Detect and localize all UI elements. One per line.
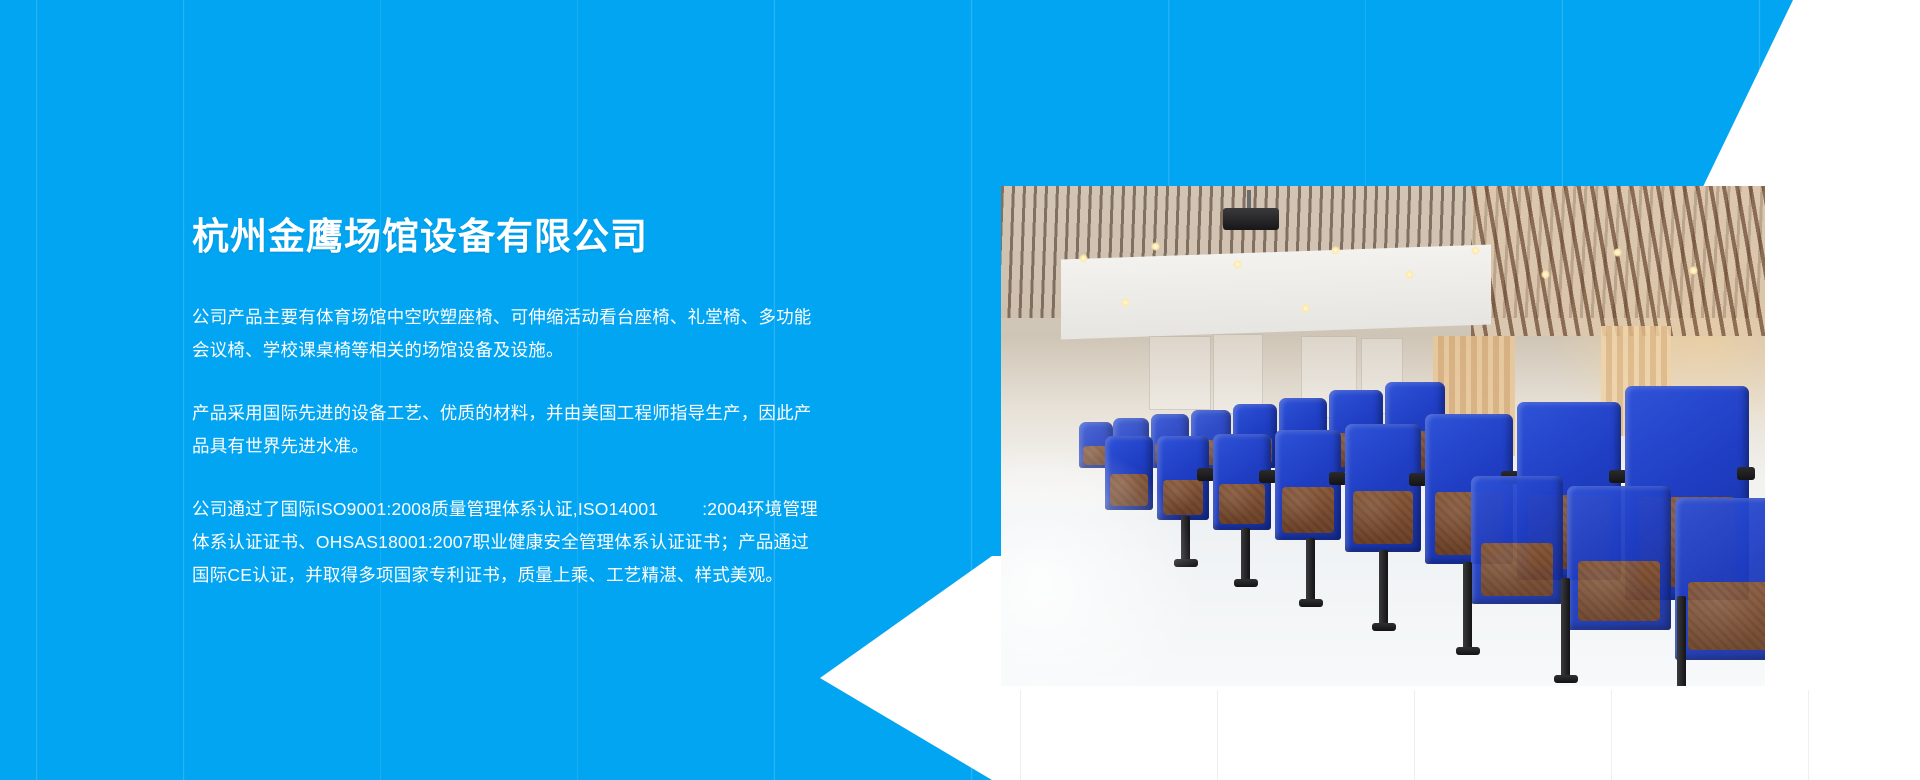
wall-panel xyxy=(1213,334,1263,414)
ceiling-flat-panel xyxy=(1061,244,1491,339)
intro-paragraph-quality: 产品采用国际先进的设备工艺、优质的材料，并由美国工程师指导生产，因此产品具有世界… xyxy=(192,397,822,463)
ceiling-light xyxy=(1233,260,1242,269)
ceiling-slats-right xyxy=(1471,186,1765,336)
seat xyxy=(1275,430,1341,540)
company-title: 杭州金鹰场馆设备有限公司 xyxy=(192,215,822,259)
auditorium-photo-image xyxy=(1001,186,1765,686)
photo-light-glare xyxy=(1001,436,1201,686)
intro-paragraph-certifications: 公司通过了国际ISO9001:2008质量管理体系认证,ISO14001:200… xyxy=(192,493,822,592)
seat-arm xyxy=(1737,467,1755,480)
seat xyxy=(1471,476,1563,604)
ceiling-light xyxy=(1151,242,1160,251)
projector xyxy=(1223,208,1279,230)
seat-pad xyxy=(1688,582,1765,650)
seat xyxy=(1345,424,1421,552)
seat xyxy=(1675,498,1765,660)
ceiling-light xyxy=(1541,270,1550,279)
seat-leg xyxy=(1306,538,1315,602)
ceiling-light xyxy=(1301,304,1310,313)
ceiling-light xyxy=(1121,298,1130,307)
seat xyxy=(1213,434,1271,530)
seat-leg xyxy=(1463,562,1472,650)
certification-text-part1: 公司通过了国际ISO9001:2008质量管理体系认证,ISO14001 xyxy=(192,499,658,519)
seat-leg xyxy=(1677,596,1686,686)
auditorium-photo xyxy=(1001,186,1765,686)
banner-text-column: 杭州金鹰场馆设备有限公司 公司产品主要有体育场馆中空吹塑座椅、可伸缩活动看台座椅… xyxy=(192,215,822,592)
ceiling-light xyxy=(1471,246,1480,255)
seat-pad xyxy=(1578,561,1659,621)
seat-pad xyxy=(1353,491,1412,545)
seat-pad xyxy=(1481,543,1553,597)
ceiling-light xyxy=(1079,254,1088,263)
seat-pad xyxy=(1282,487,1333,533)
ceiling-light xyxy=(1689,266,1698,275)
seat xyxy=(1567,486,1671,630)
intro-paragraph-products: 公司产品主要有体育场馆中空吹塑座椅、可伸缩活动看台座椅、礼堂椅、多功能会议椅、学… xyxy=(192,301,822,367)
ceiling-light xyxy=(1613,248,1622,257)
ceiling-light xyxy=(1331,246,1340,255)
seat-pad xyxy=(1219,484,1264,524)
seat-leg xyxy=(1561,578,1570,678)
seat-leg xyxy=(1241,528,1250,582)
wall-panel xyxy=(1149,336,1211,410)
ceiling-light xyxy=(1405,270,1414,279)
banner-section: 杭州金鹰场馆设备有限公司 公司产品主要有体育场馆中空吹塑座椅、可伸缩活动看台座椅… xyxy=(0,0,1920,780)
seat-leg xyxy=(1379,550,1388,626)
